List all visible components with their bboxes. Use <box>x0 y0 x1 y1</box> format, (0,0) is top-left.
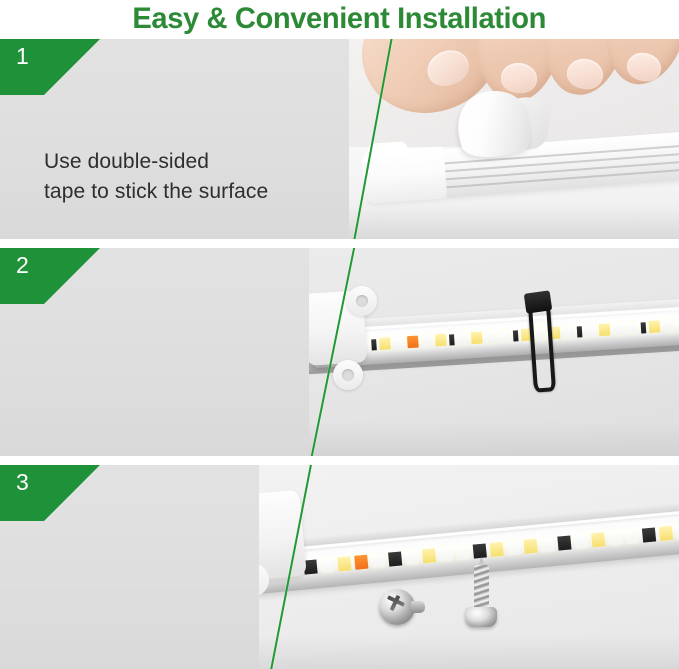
zip-tie-head <box>524 290 553 313</box>
led-chip <box>663 319 675 332</box>
led-chip <box>457 332 469 345</box>
floor-shadow <box>259 635 679 669</box>
led-chip <box>456 545 470 560</box>
step-1-text: Use double-sided tape to stick the surfa… <box>44 147 268 207</box>
led-chip <box>540 537 554 552</box>
screw-head <box>465 607 497 627</box>
led-chip <box>422 548 436 563</box>
floor-shadow <box>309 422 679 456</box>
step-1-line-1: Use double-sided <box>44 147 268 177</box>
led-chip <box>485 331 497 344</box>
header-bar: Easy & Convenient Installation <box>0 0 679 38</box>
led-chip <box>354 555 368 570</box>
screw-tip <box>411 601 425 613</box>
led-chip <box>407 336 419 349</box>
screw-standing-upright <box>465 565 497 631</box>
green-triangle <box>0 39 100 95</box>
step-1-number-badge: 1 <box>0 39 100 95</box>
led-chip <box>627 322 639 335</box>
led-chip <box>393 336 405 349</box>
resistor-chip <box>557 535 571 550</box>
led-chip <box>435 334 447 347</box>
resistor-chip <box>473 543 487 558</box>
led-chip <box>563 326 575 339</box>
step-panel-1: 1 Use double-sided tape to stick the sur… <box>0 39 679 239</box>
resistor-chip <box>642 527 656 542</box>
led-chip <box>507 540 521 555</box>
led-chip <box>523 539 537 554</box>
led-chip <box>613 323 625 336</box>
page-title: Easy & Convenient Installation <box>133 4 547 34</box>
step-2-number-badge: 2 <box>0 248 100 304</box>
resistor-chip <box>371 339 377 350</box>
led-chip <box>659 526 673 541</box>
led-chip <box>439 547 453 562</box>
step-number: 1 <box>16 45 29 68</box>
screw-threads <box>474 565 489 613</box>
resistor-chip <box>641 322 647 333</box>
resistor-chip <box>388 551 402 566</box>
step-number: 3 <box>16 471 29 494</box>
green-triangle <box>0 465 100 521</box>
mounting-bracket-ear-bottom <box>333 360 363 390</box>
led-chip <box>499 330 511 343</box>
led-chip <box>625 529 639 544</box>
led-chip <box>379 337 391 350</box>
led-chip <box>490 542 504 557</box>
installation-infographic: Easy & Convenient Installation <box>0 0 679 669</box>
bar-mount-bracket <box>259 490 307 583</box>
step-1-photo <box>349 39 679 239</box>
led-chip <box>471 332 483 345</box>
led-chip <box>337 556 351 571</box>
led-chip <box>574 534 588 549</box>
led-chip <box>649 320 661 333</box>
step-3-number-badge: 3 <box>0 465 100 521</box>
step-2-photo <box>309 248 679 456</box>
led-chip <box>585 324 597 337</box>
led-chip <box>405 550 419 565</box>
step-3-photo <box>259 465 679 669</box>
resistor-chip <box>449 334 455 345</box>
green-triangle <box>0 248 100 304</box>
led-chip <box>371 553 385 568</box>
led-chip <box>421 335 433 348</box>
led-chip <box>591 532 605 547</box>
step-panel-2: 2 Use lashing tape to tie it to the plac… <box>0 248 679 456</box>
led-chip <box>608 531 622 546</box>
led-chip <box>320 558 334 573</box>
mounting-bracket-ear-top <box>347 286 377 316</box>
resistor-chip <box>513 330 519 341</box>
step-1-line-2: tape to stick the surface <box>44 177 268 207</box>
screw-lying-flat <box>379 585 425 627</box>
led-chip <box>599 323 611 336</box>
bar-end-cap <box>362 146 448 204</box>
step-panel-3: 3 Fix with included screws. <box>0 465 679 669</box>
resistor-chip <box>577 326 583 337</box>
step-number: 2 <box>16 254 29 277</box>
